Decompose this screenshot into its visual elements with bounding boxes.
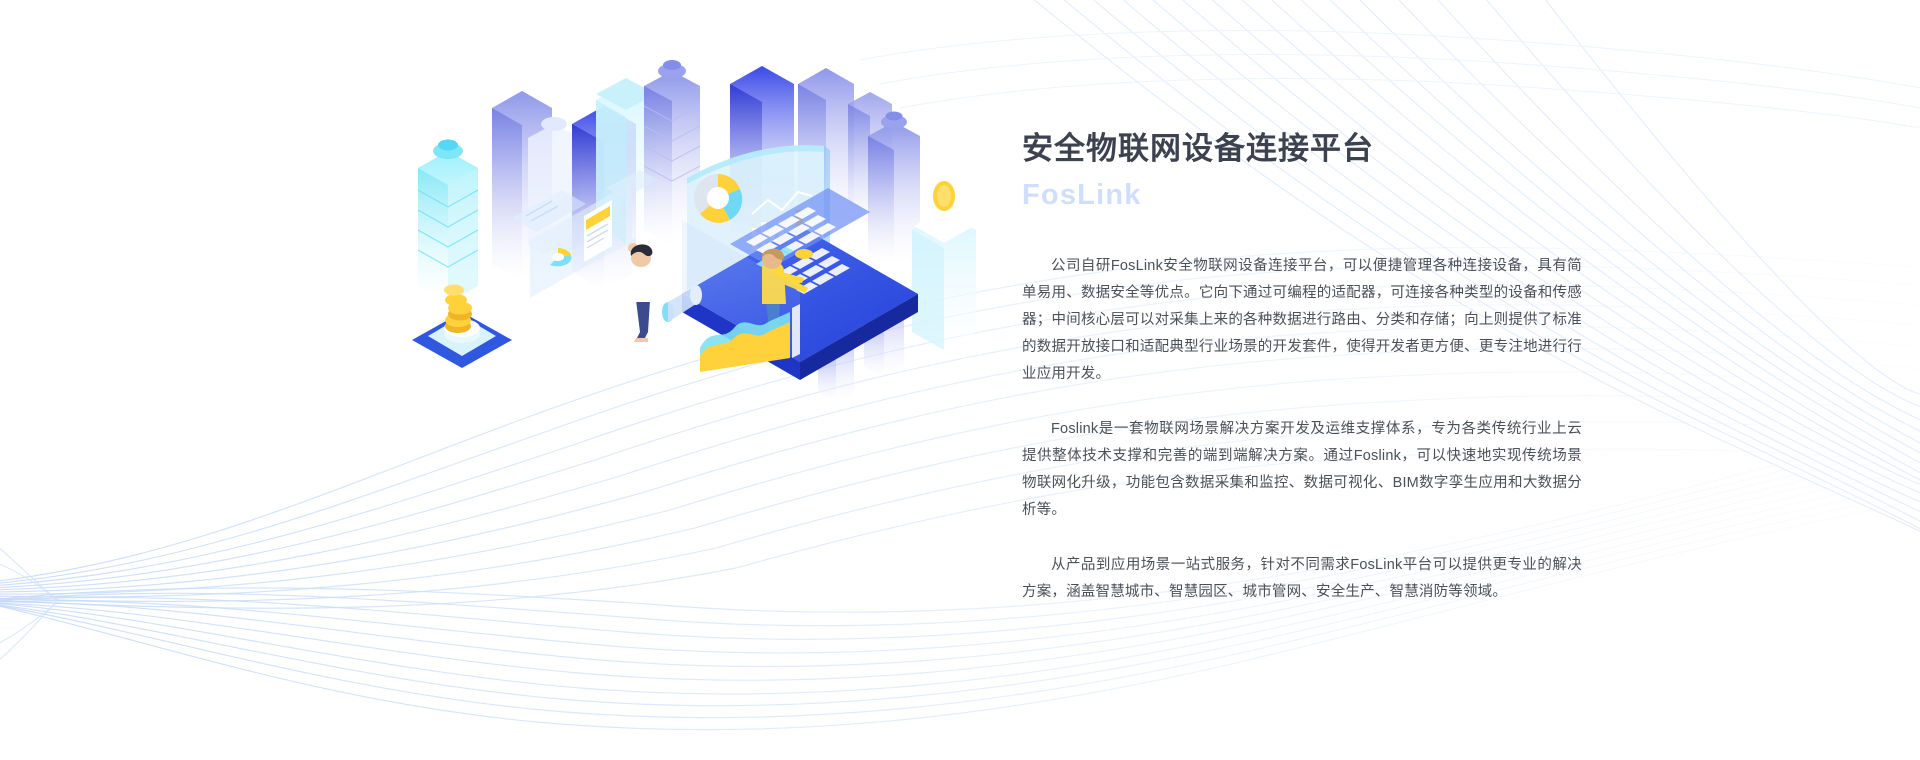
body-paragraph-3: 从产品到应用场景一站式服务，针对不同需求FosLink平台可以提供更专业的解决方… [1022, 552, 1582, 606]
isometric-smart-city-platform-illustration [400, 50, 1000, 400]
page-subtitle: FosLink [1022, 177, 1582, 213]
page-root: 安全物联网设备连接平台 FosLink 公司自研FosLink安全物联网设备连接… [0, 0, 1920, 760]
coin-pedestal [912, 181, 976, 350]
body-paragraph-1: 公司自研FosLink安全物联网设备连接平台，可以便捷管理各种连接设备，具有简单… [1022, 253, 1582, 388]
city-tower-left-cyan [418, 140, 478, 304]
body-paragraph-2: Foslink是一套物联网场景解决方案开发及运维支撑体系，专为各类传统行业上云提… [1022, 416, 1582, 524]
coin-stack-pedestal [412, 285, 512, 369]
text-column: 安全物联网设备连接平台 FosLink 公司自研FosLink安全物联网设备连接… [1022, 130, 1582, 606]
coin-on-grid [795, 249, 813, 259]
page-title: 安全物联网设备连接平台 [1022, 130, 1582, 169]
worker-white-shirt [628, 243, 676, 342]
